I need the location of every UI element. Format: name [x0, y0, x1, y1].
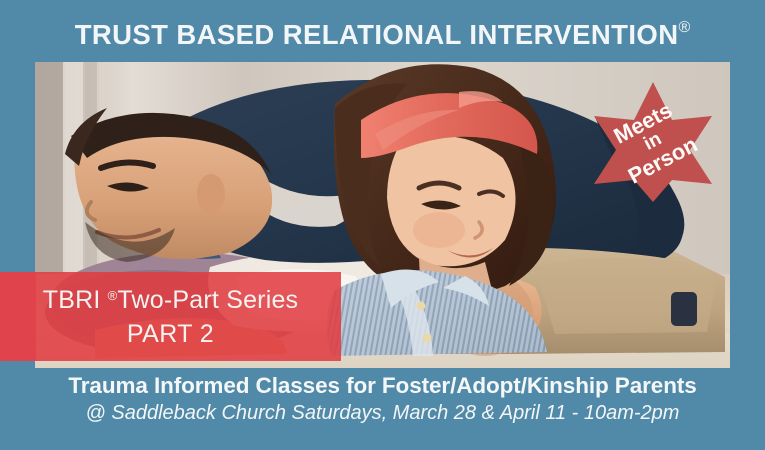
page-title-text: TRUST BASED RELATIONAL INTERVENTION [75, 19, 679, 50]
poster-header: TRUST BASED RELATIONAL INTERVENTION® [0, 20, 765, 49]
series-banner-text: TBRI ®Two-Part Series PART 2 [0, 272, 341, 361]
series-title: TBRI ®Two-Part Series [0, 285, 341, 316]
meets-in-person-badge: Meets in Person [592, 80, 714, 204]
series-title-suffix: Two-Part Series [117, 286, 298, 314]
footer-headline: Trauma Informed Classes for Foster/Adopt… [0, 372, 765, 399]
registered-trademark-icon: ® [678, 19, 690, 36]
registered-trademark-icon: ® [108, 288, 118, 303]
poster-footer: Trauma Informed Classes for Foster/Adopt… [0, 372, 765, 426]
page-title: TRUST BASED RELATIONAL INTERVENTION® [75, 20, 691, 49]
series-part: PART 2 [0, 318, 341, 351]
event-poster: TRUST BASED RELATIONAL INTERVENTION® [0, 0, 765, 450]
series-title-prefix: TBRI [43, 286, 108, 314]
footer-details: @ Saddleback Church Saturdays, March 28 … [0, 401, 765, 426]
six-point-star-icon [592, 80, 714, 204]
